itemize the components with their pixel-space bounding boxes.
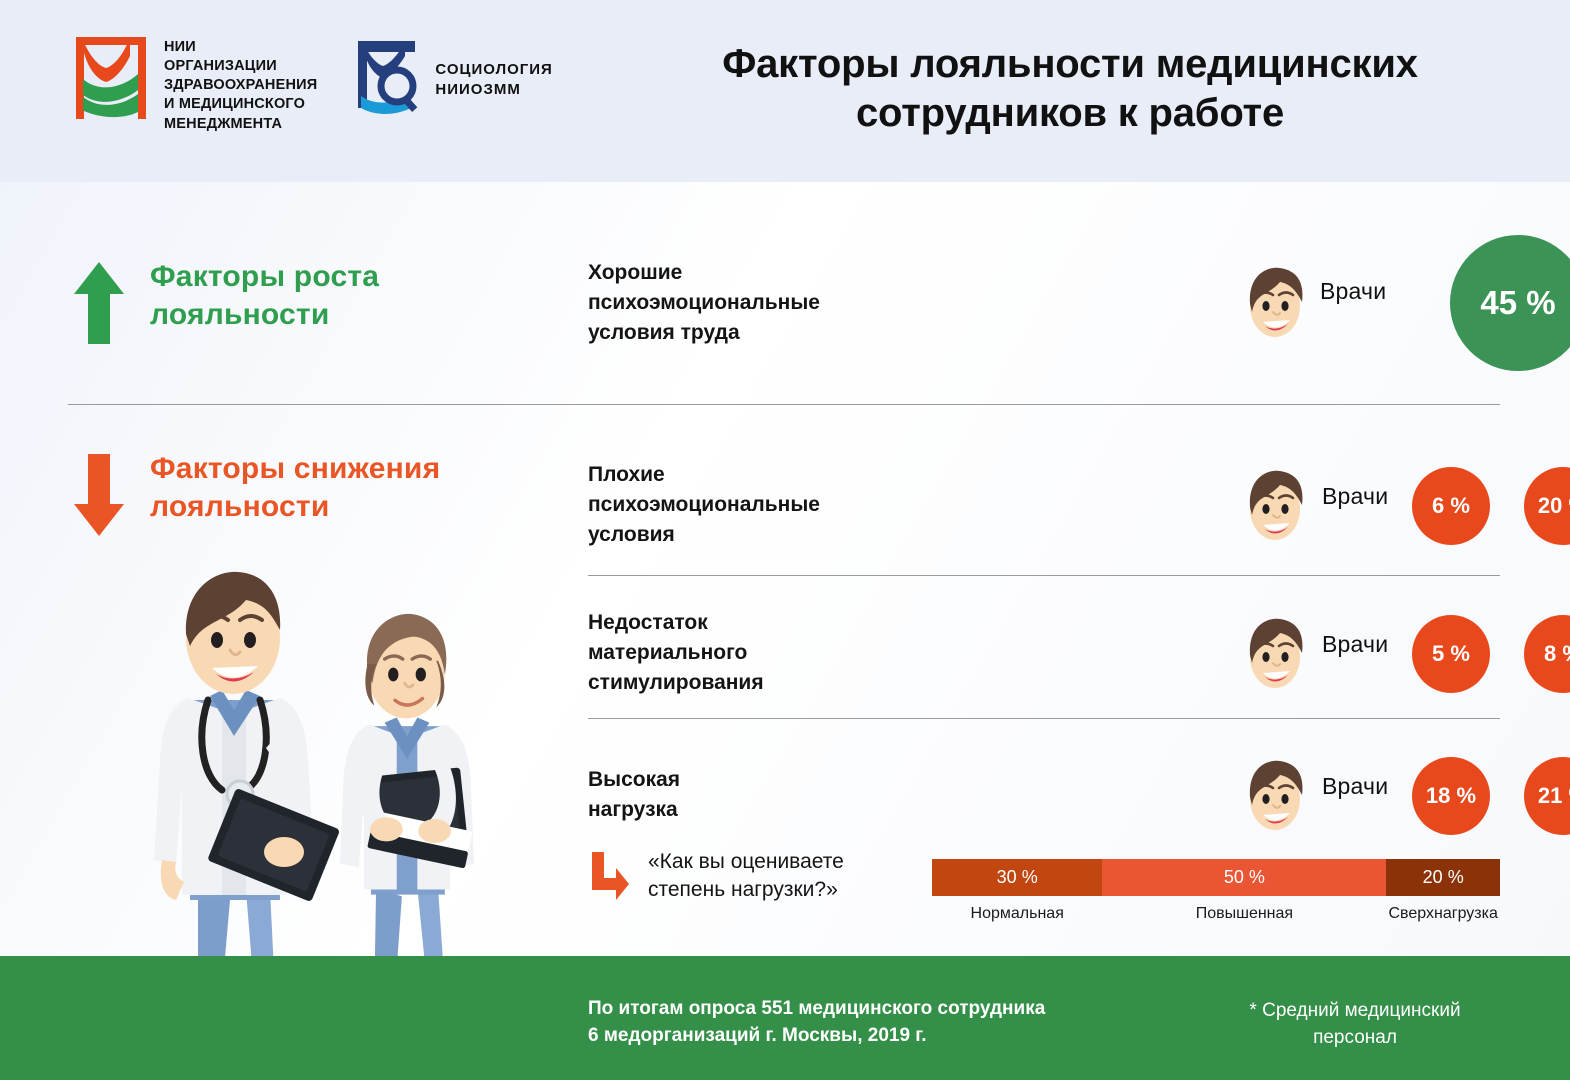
factor-title: Недостаток материального стимулирования [588,608,888,697]
niiozmm-logo-text: НИИ ОРГАНИЗАЦИИ ЗДРАВООХРАНЕНИЯ И МЕДИЦИ… [164,34,317,134]
group-label-doctors: Врачи [1322,483,1388,510]
factor-row-bad-conditions: Плохие психоэмоциональные условия Врачи … [588,440,1500,570]
factor-title: Плохие психоэмоциональные условия [588,460,888,549]
value-bubble-doctors: 18 % [1412,757,1490,835]
arrow-down-icon [72,452,126,538]
header-band: НИИ ОРГАНИЗАЦИИ ЗДРАВООХРАНЕНИЯ И МЕДИЦИ… [0,0,1570,182]
footnote-text: * Средний медицинский персонал [1200,998,1510,1052]
category-growth-label: Факторы роста лояльности [150,258,379,335]
section-divider [588,718,1500,719]
factor-row-high-workload: Высокая нагрузка Врачи 18 % 21 % СМП [588,730,1500,860]
category-growth: Факторы роста лояльности [72,258,379,346]
factor-row-good-conditions: Хорошие психоэмоциональные условия труда… [588,228,1500,378]
category-decline-label: Факторы снижения лояльности [150,450,440,527]
factor-values: Врачи 5 % 8 % СМП [888,593,1500,713]
factor-row-low-incentives: Недостаток материального стимулирования … [588,588,1500,718]
sociology-logo-icon [355,38,421,122]
section-divider [68,404,1500,405]
doctor-male-avatar-icon [1238,467,1312,545]
logo-sociology: СОЦИОЛОГИЯ НИИОЗММ [355,34,552,122]
bar-label-overload: Сверхнагрузка [1386,905,1500,923]
value-bubble-nurses: 21 % [1524,757,1570,835]
stacked-bar-legend: Нормальная Повышенная Сверхнагрузка [932,905,1500,923]
value-bubble-doctors: 5 % [1412,615,1490,693]
doctor-male-avatar-icon [1238,615,1312,693]
workload-question: «Как вы оцениваете степень нагрузки?» [590,848,844,905]
bar-segment-increased: 50 % [1102,859,1386,896]
factor-values: Врачи 45 % СМП* [888,228,1500,378]
value-bubble-combined: 45 % [1450,235,1570,371]
doctor-male-avatar-icon [1238,757,1312,835]
value-bubble-doctors: 6 % [1412,467,1490,545]
value-bubble-nurses: 8 % [1524,615,1570,693]
value-bubble-nurses: 20 % [1524,467,1570,545]
page-title: Факторы лояльности медицинских сотрудник… [640,40,1500,138]
category-decline: Факторы снижения лояльности [72,450,440,538]
female-doctor-figure [340,614,474,1010]
factor-title: Высокая нагрузка [588,765,888,825]
factor-values: Врачи 6 % 20 % СМП [888,445,1500,565]
infographic-poster: НИИ ОРГАНИЗАЦИИ ЗДРАВООХРАНЕНИЯ И МЕДИЦИ… [0,0,1570,1080]
niiozmm-logo-icon [72,34,150,122]
bar-label-normal: Нормальная [932,905,1102,923]
bar-label-increased: Повышенная [1102,905,1386,923]
group-label-doctors: Врачи [1322,631,1388,658]
bar-segment-normal: 30 % [932,859,1102,896]
factor-values: Врачи 18 % 21 % СМП [888,735,1500,855]
doctor-male-avatar-icon [1238,264,1312,342]
stacked-bar-track: 30 % 50 % 20 % [932,859,1500,896]
factor-title: Хорошие психоэмоциональные условия труда [588,258,888,347]
survey-source-text: По итогам опроса 551 медицинского сотруд… [588,996,1045,1050]
logo-group: НИИ ОРГАНИЗАЦИИ ЗДРАВООХРАНЕНИЯ И МЕДИЦИ… [72,34,553,134]
sociology-logo-text: СОЦИОЛОГИЯ НИИОЗММ [435,60,552,101]
section-divider [588,575,1500,576]
group-label-doctors: Врачи [1322,773,1388,800]
arrow-up-icon [72,260,126,346]
workload-question-text: «Как вы оцениваете степень нагрузки?» [648,848,844,905]
logo-niiozmm: НИИ ОРГАНИЗАЦИИ ЗДРАВООХРАНЕНИЯ И МЕДИЦИ… [72,34,317,134]
group-label-doctors: Врачи [1320,278,1386,305]
bar-segment-overload: 20 % [1386,859,1500,896]
workload-stacked-bar-chart: 30 % 50 % 20 % Нормальная Повышенная Све… [932,859,1500,923]
elbow-arrow-icon [590,850,630,902]
